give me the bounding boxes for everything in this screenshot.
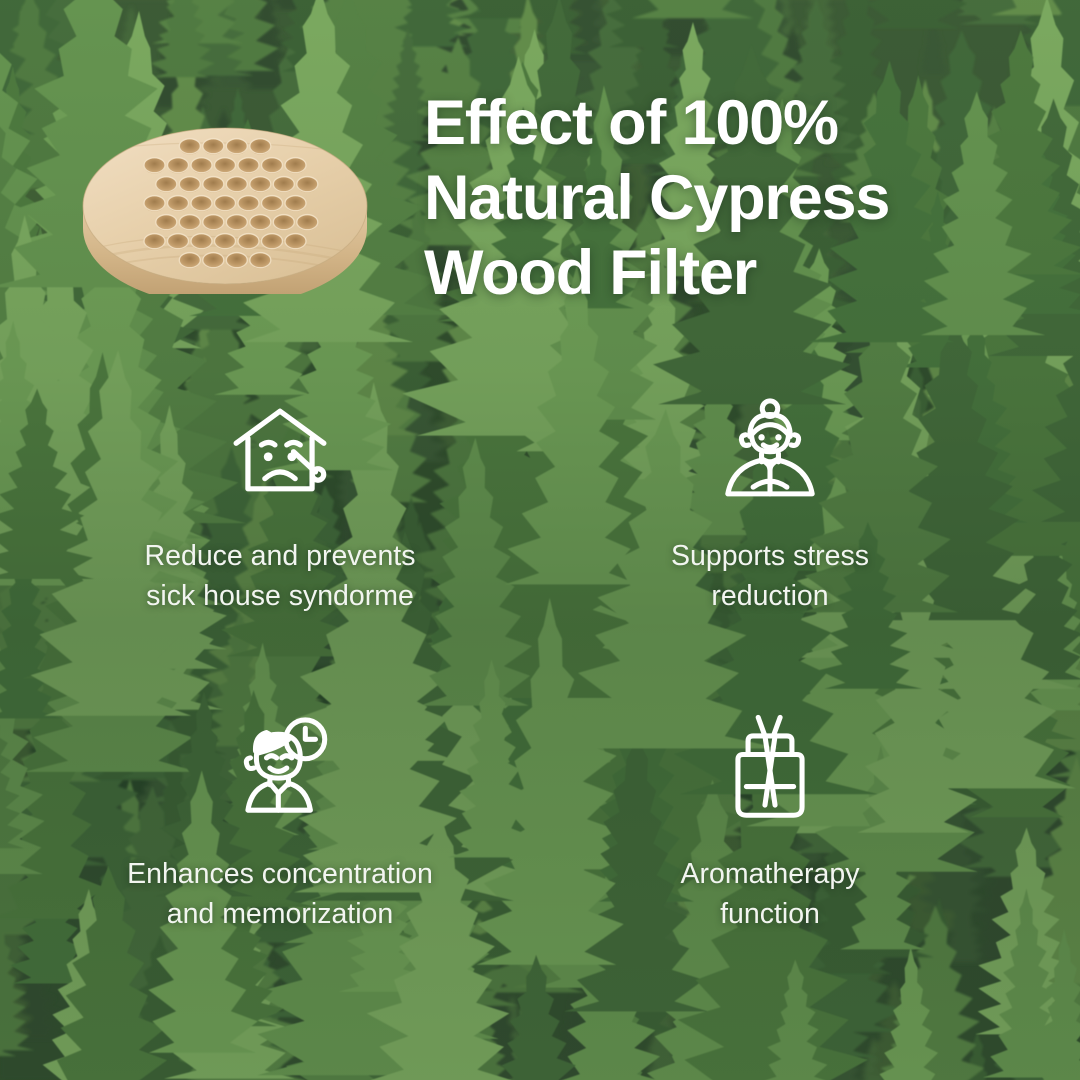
feature-row-top: Reduce and prevents sick house syndorme bbox=[0, 390, 1080, 616]
feature-item-stress-reduction: Supports stress reduction bbox=[560, 390, 980, 616]
title-line-2: Natural Cypress bbox=[424, 161, 1054, 236]
feature-label: Enhances concentration and memorization bbox=[127, 854, 433, 934]
meditating-person-icon bbox=[716, 390, 824, 510]
reed-diffuser-icon bbox=[721, 708, 819, 828]
sad-house-icon bbox=[226, 390, 334, 510]
feature-label: Reduce and prevents sick house syndorme bbox=[145, 536, 416, 616]
title-line-1: Effect of 100% bbox=[424, 86, 1054, 161]
title-line-3: Wood Filter bbox=[424, 236, 1054, 311]
feature-item-concentration: Enhances concentration and memorization bbox=[0, 708, 560, 934]
feature-row-bottom: Enhances concentration and memorization … bbox=[0, 708, 1080, 934]
feature-label: Supports stress reduction bbox=[671, 536, 869, 616]
product-image-cypress-wood-filter bbox=[78, 116, 372, 294]
feature-list: Reduce and prevents sick house syndorme bbox=[0, 390, 1080, 934]
feature-item-aromatherapy: Aromatherapy function bbox=[560, 708, 980, 934]
poster-title: Effect of 100% Natural Cypress Wood Filt… bbox=[424, 86, 1054, 311]
poster: Effect of 100% Natural Cypress Wood Filt… bbox=[0, 0, 1080, 1080]
focused-person-clock-icon bbox=[226, 708, 334, 828]
feature-item-sick-house: Reduce and prevents sick house syndorme bbox=[0, 390, 560, 616]
feature-label: Aromatherapy function bbox=[680, 854, 859, 934]
